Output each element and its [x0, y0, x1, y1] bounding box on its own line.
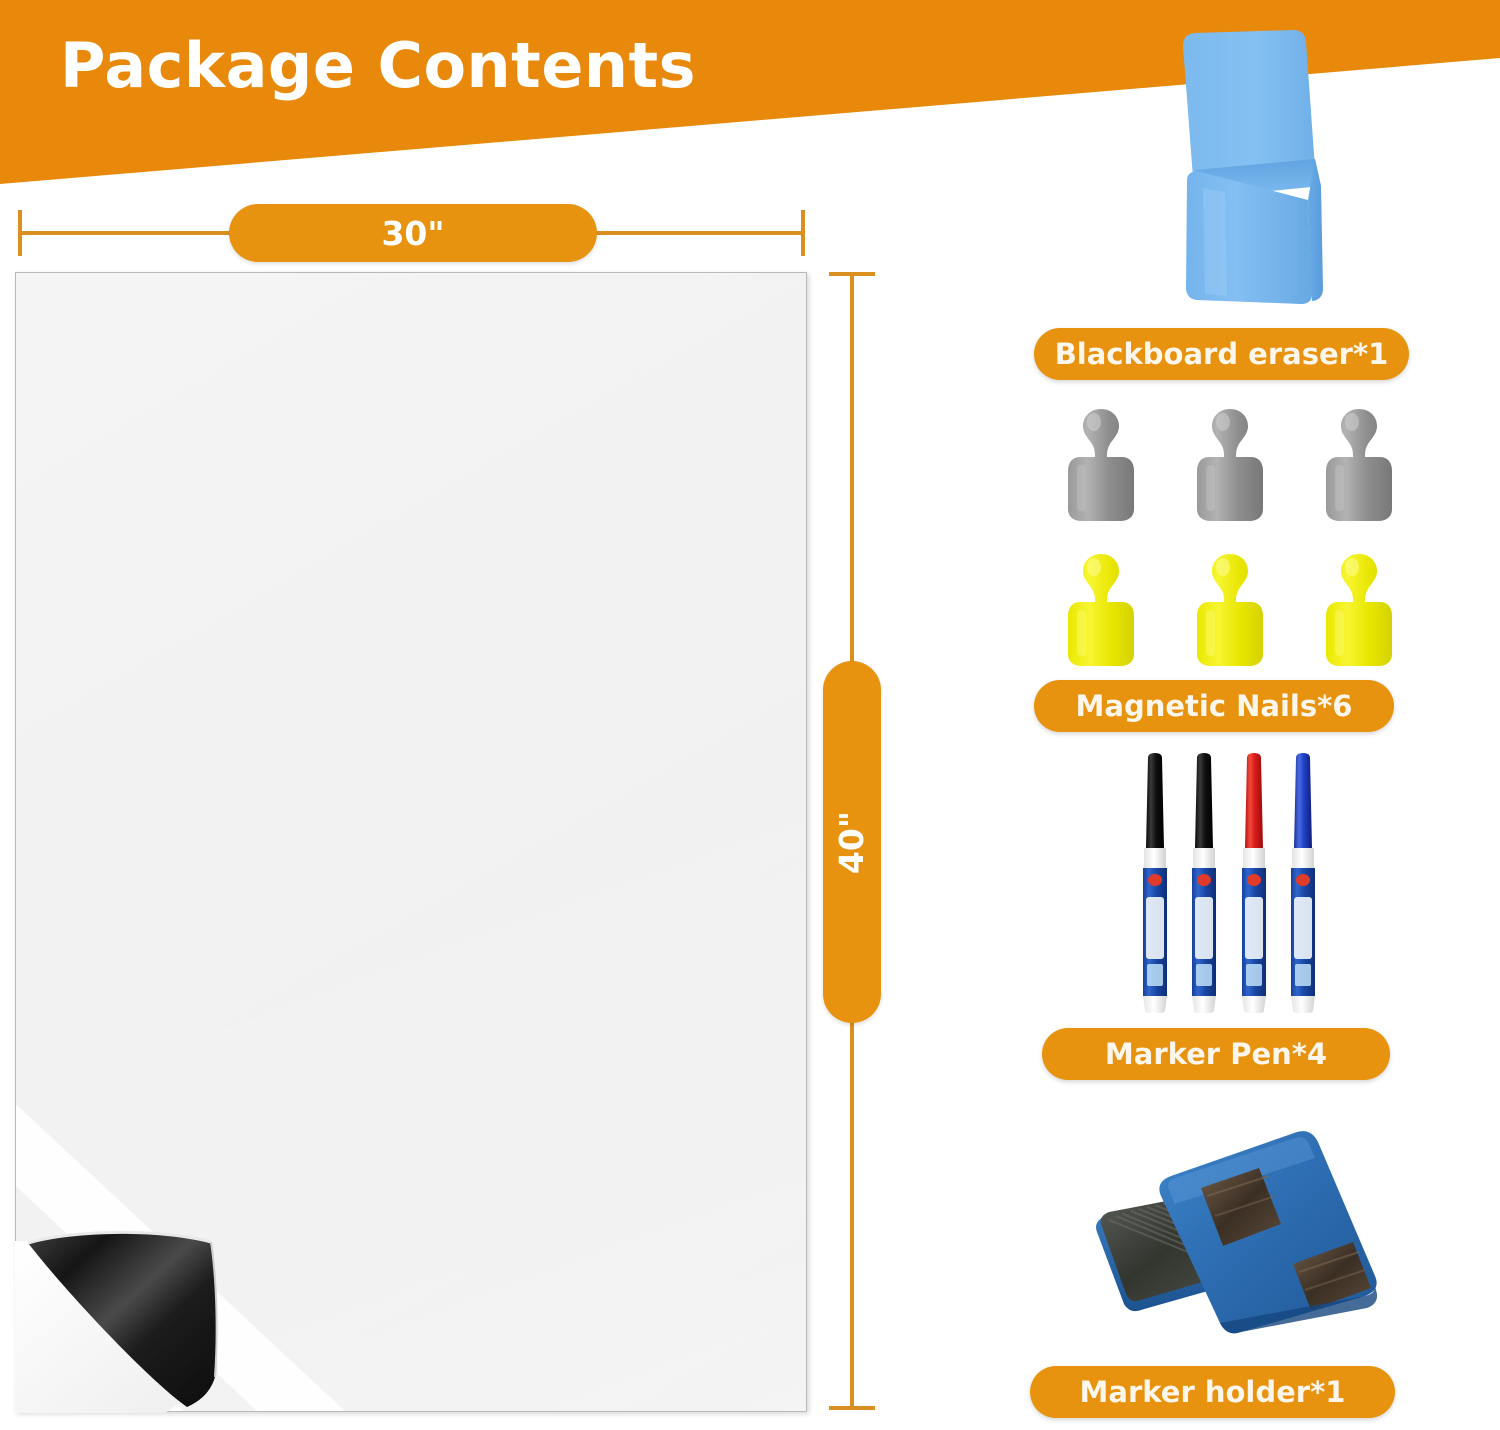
marker-pen-blue — [1286, 752, 1320, 1014]
magnetic-nail-gray — [1060, 405, 1142, 525]
height-dimension-label: 40" — [823, 661, 881, 1023]
height-dimension-cap-bottom — [829, 1406, 875, 1410]
peeled-corner — [15, 1185, 290, 1413]
infographic-canvas: Package Contents 30" 40" — [0, 0, 1500, 1430]
magnetic-nail-gray — [1189, 405, 1271, 525]
label-blackboard-eraser: Blackboard eraser*1 — [1034, 328, 1409, 380]
magnetic-nail-yellow — [1060, 550, 1142, 670]
magnetic-nails-gray-row — [1060, 395, 1400, 525]
height-dimension-label-text: 40" — [833, 810, 872, 873]
width-dimension-cap-right — [801, 210, 805, 256]
accessories-column: Blackboard eraser*1 — [1020, 0, 1460, 1430]
width-dimension-label: 30" — [229, 204, 597, 262]
marker-pen-black-1 — [1138, 752, 1172, 1014]
blackboard-eraser-item — [1075, 1120, 1415, 1340]
magnetic-nail-yellow — [1318, 550, 1400, 670]
marker-pens-row — [1138, 752, 1320, 1014]
marker-pen-black-2 — [1187, 752, 1221, 1014]
page-title: Package Contents — [60, 32, 696, 100]
magnetic-nail-gray — [1318, 405, 1400, 525]
marker-pen-red — [1237, 752, 1271, 1014]
marker-holder-item — [1165, 28, 1325, 298]
label-marker-holder: Marker holder*1 — [1030, 1366, 1395, 1418]
label-magnetic-nails: Magnetic Nails*6 — [1034, 680, 1394, 732]
magnetic-nails-yellow-row — [1060, 540, 1400, 670]
label-marker-pen: Marker Pen*4 — [1042, 1028, 1390, 1080]
magnetic-nail-yellow — [1189, 550, 1271, 670]
